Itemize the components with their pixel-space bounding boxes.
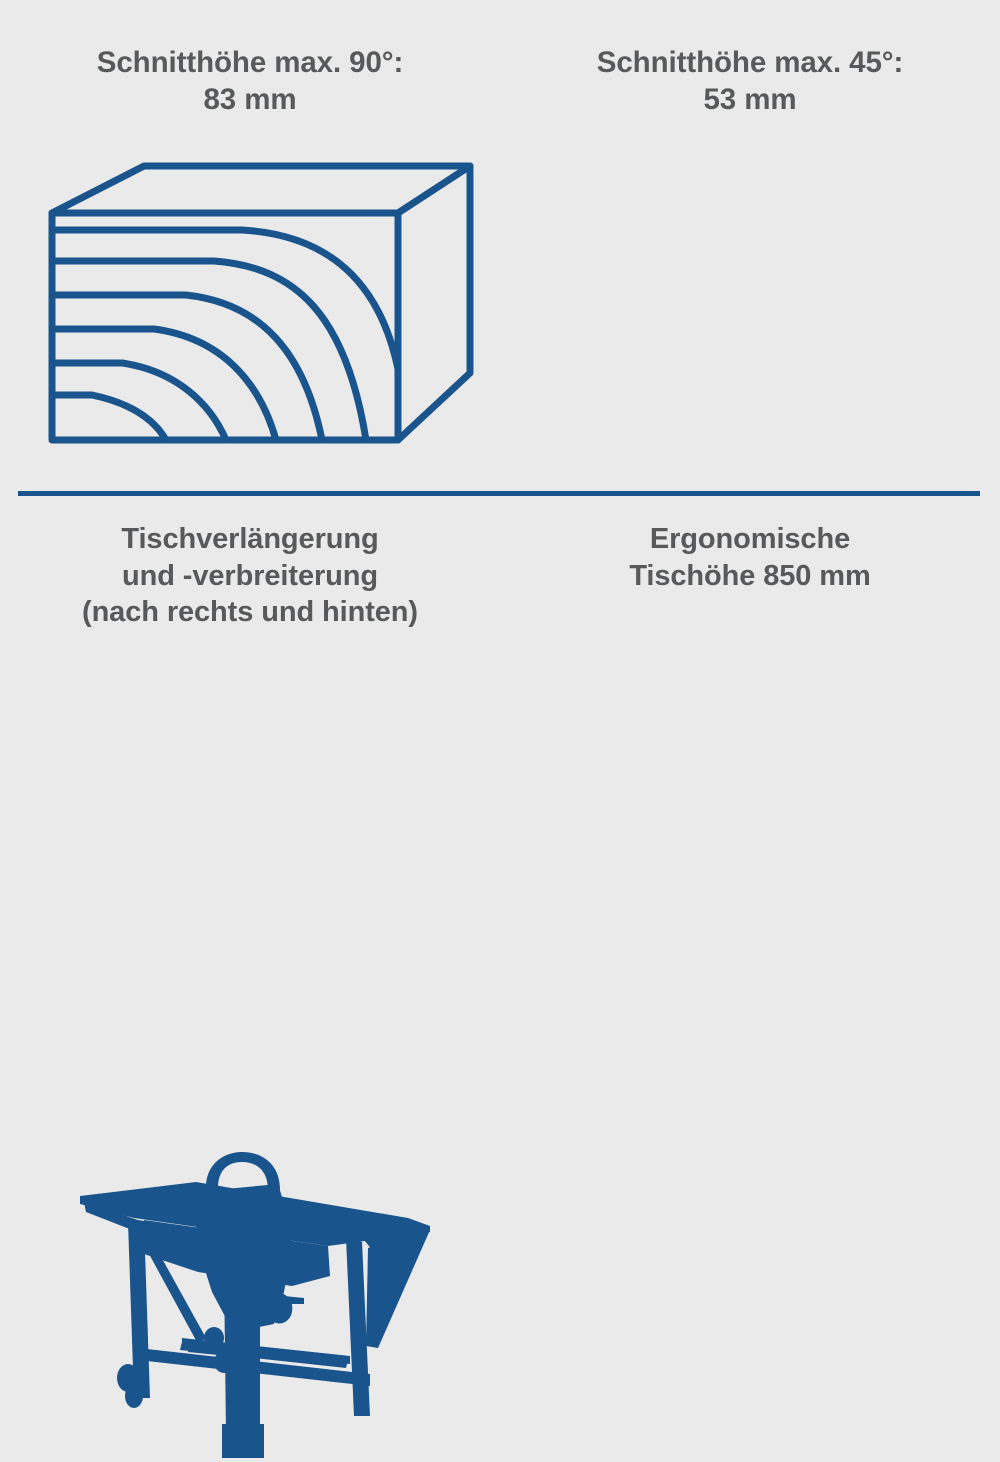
height-adjust-foot bbox=[222, 1424, 264, 1458]
panel-table-extension: Tischverlängerung und -verbreiterung (na… bbox=[0, 497, 500, 1000]
wheel-lower-left bbox=[125, 1384, 143, 1408]
growth-ring-1 bbox=[52, 230, 398, 369]
section-divider bbox=[18, 491, 980, 496]
panel-caption-cut-height-90: Schnitthöhe max. 90°: 83 mm bbox=[0, 44, 500, 118]
panel-cut-height-90: Schnitthöhe max. 90°: 83 mm bbox=[0, 0, 500, 492]
panel-caption-table-height: Ergonomische Tischöhe 850 mm bbox=[500, 521, 1000, 594]
growth-ring-6 bbox=[52, 395, 166, 440]
panel-table-height: Ergonomische Tischöhe 850 mm bbox=[500, 497, 1000, 1000]
wood-block-straight-cut-illustration bbox=[46, 155, 476, 455]
pulley-lower bbox=[214, 1351, 234, 1373]
carry-handle bbox=[206, 1152, 280, 1190]
infographic-root: Schnitthöhe max. 90°: 83 mm Schnitthöhe … bbox=[0, 0, 1000, 1000]
table-saw-silhouette-illustration bbox=[78, 1152, 430, 1462]
growth-ring-5 bbox=[52, 363, 226, 440]
panel-caption-table-extension: Tischverlängerung und -verbreiterung (na… bbox=[0, 521, 500, 631]
growth-ring-3 bbox=[52, 295, 322, 440]
table-saw-body bbox=[80, 1152, 430, 1458]
crank-handle-rod bbox=[284, 1296, 304, 1304]
block-right-face bbox=[398, 166, 470, 440]
panel-cut-height-45: Schnitthöhe max. 45°: 53 mm bbox=[500, 0, 1000, 492]
growth-ring-4 bbox=[52, 329, 276, 440]
panel-caption-cut-height-45: Schnitthöhe max. 45°: 53 mm bbox=[500, 44, 1000, 118]
pulley-upper bbox=[204, 1327, 224, 1349]
